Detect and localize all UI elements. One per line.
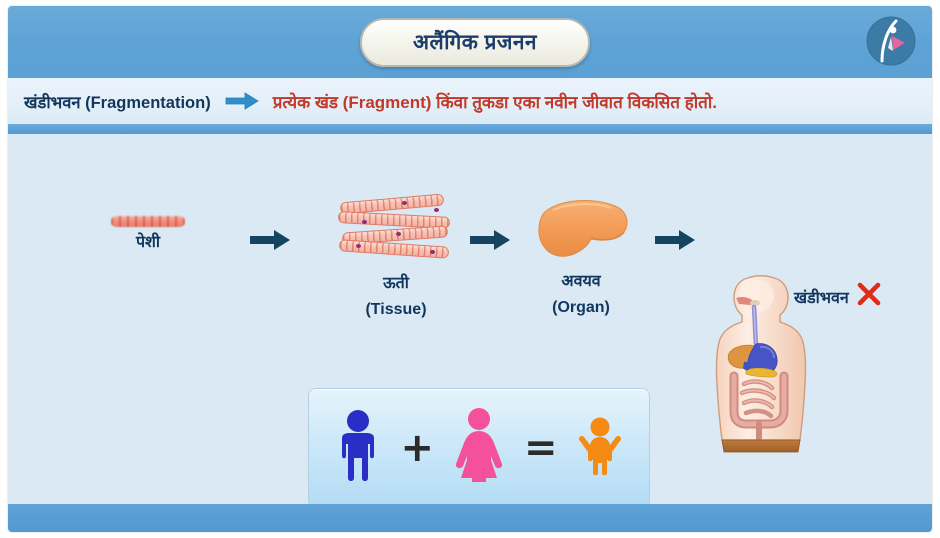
page-title: अलैंगिक प्रजनन — [360, 18, 590, 67]
content-area: पेशी — [8, 134, 932, 504]
flow-step-cell-label: पेशी — [103, 233, 193, 253]
muscle-tissue-icon — [336, 196, 456, 266]
flow-step-cell: पेशी — [103, 216, 193, 253]
muscle-cell-icon — [111, 216, 185, 227]
slide-root: अलैंगिक प्रजनन खंडीभवन (Fragmentation) — [0, 0, 940, 538]
flow-arrow-1-icon — [248, 228, 292, 257]
liver-organ-icon — [529, 196, 633, 262]
footer-band — [8, 504, 932, 532]
subtitle-left-text: खंडीभवन (Fragmentation) — [24, 90, 211, 113]
cross-mark-icon — [856, 281, 882, 312]
flow-arrow-2-icon — [468, 228, 512, 257]
flow-step-tissue-label-mr: ऊती — [328, 274, 464, 294]
flow-step-tissue-label-en: (Tissue) — [328, 300, 464, 320]
header-divider — [8, 124, 932, 134]
female-figure-icon — [450, 406, 508, 491]
right-arrow-icon — [225, 91, 259, 111]
flow-step-organ-label-en: (Organ) — [513, 298, 649, 318]
slide-board: अलैंगिक प्रजनन खंडीभवन (Fragmentation) — [8, 6, 932, 532]
flow-step-organ-label-mr: अवयव — [513, 272, 649, 292]
flow-arrow-3-icon — [653, 228, 697, 257]
header-bar: अलैंगिक प्रजनन — [8, 6, 932, 78]
child-figure-icon — [574, 415, 626, 482]
athlete-logo-icon — [862, 12, 920, 70]
flow-step-organ: अवयव (Organ) — [513, 196, 649, 318]
subtitle-strip: खंडीभवन (Fragmentation) प्रत्येक खंड (Fr… — [8, 78, 932, 124]
subtitle-right-text: प्रत्येक खंड (Fragment) किंवा तुकडा एका … — [273, 90, 717, 113]
flow-step-tissue: ऊती (Tissue) — [328, 196, 464, 320]
fragmentation-label: खंडीभवन — [794, 286, 849, 308]
fragmentation-cross-annotation: खंडीभवन — [794, 281, 882, 312]
plus-sign: + — [400, 428, 434, 468]
sexual-reproduction-panel: + = — [308, 388, 650, 508]
page-title-text: अलैंगिक प्रजनन — [413, 32, 537, 53]
equals-sign: = — [524, 428, 558, 468]
male-figure-icon — [332, 408, 384, 489]
